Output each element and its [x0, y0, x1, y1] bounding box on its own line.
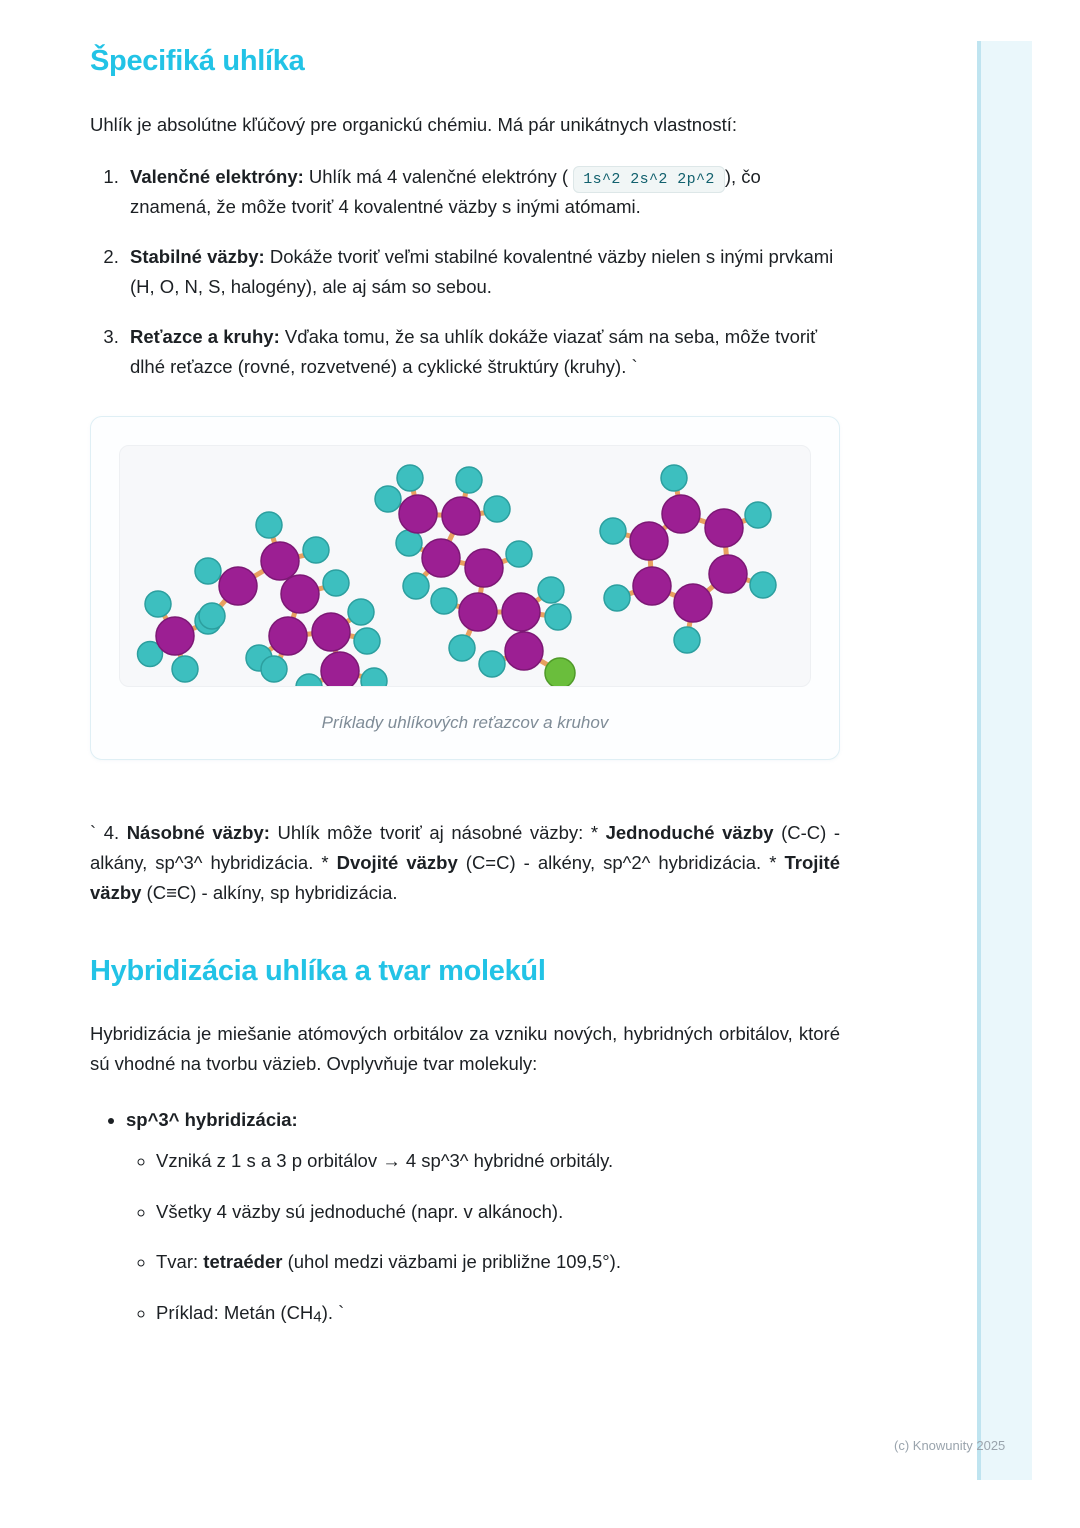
list-item-label: Valenčné elektróny:: [130, 166, 304, 187]
paragraph-bold-single-bonds: Jednoduché väzby: [606, 822, 774, 843]
document-page: Špecifiká uhlíka Uhlík je absolútne kľúč…: [0, 0, 930, 1528]
paragraph-bold-double-bonds: Dvojité väzby: [337, 852, 458, 873]
sub-item-bold: tetraéder: [203, 1251, 282, 1272]
list-item: Stabilné väzby: Dokáže tvoriť veľmi stab…: [124, 242, 840, 302]
benzene-ring-molecule: [600, 465, 776, 653]
list-item: sp^3^ hybridizácia: Vzniká z 1 s a 3 p o…: [126, 1105, 840, 1330]
halogenated-chain-molecule: [375, 465, 575, 686]
multiple-bonds-paragraph: ` 4. Násobné väzby: Uhlík môže tvoriť aj…: [90, 818, 840, 908]
right-side-panel: [977, 41, 1032, 1480]
methane-subscript: 4: [313, 1309, 321, 1326]
figure-card: .c { fill:#9c1f93; stroke:#7d1875; strok…: [90, 416, 840, 760]
molecule-diagram-svg: .c { fill:#9c1f93; stroke:#7d1875; strok…: [120, 446, 810, 686]
branched-alkane-molecule: [195, 512, 387, 686]
list-item: Reťazce a kruhy: Vďaka tomu, že sa uhlík…: [124, 322, 840, 382]
sub-list-item: Tvar: tetraéder (uhol medzi väzbami je p…: [156, 1247, 840, 1277]
page-title: Špecifiká uhlíka: [90, 44, 840, 79]
sub-item-prefix: Tvar:: [156, 1251, 203, 1272]
paragraph-part-1: Uhlík môže tvoriť aj násobné väzby: *: [270, 822, 606, 843]
list-item: Valenčné elektróny: Uhlík má 4 valenčné …: [124, 162, 840, 222]
paragraph-prefix: ` 4.: [90, 822, 127, 843]
sub-item-prefix: Príklad: Metán (CH: [156, 1302, 313, 1323]
hybridization-title: Hybridizácia uhlíka a tvar molekúl: [90, 954, 840, 989]
sub-list-item: Vzniká z 1 s a 3 p orbitálov → 4 sp^3^ h…: [156, 1146, 840, 1176]
sub-item-suffix: (uhol medzi väzbami je približne 109,5°)…: [282, 1251, 621, 1272]
molecule-illustration: .c { fill:#9c1f93; stroke:#7d1875; strok…: [119, 445, 811, 687]
figure-caption: Príklady uhlíkových reťazcov a kruhov: [119, 713, 811, 733]
paragraph-part-3: (C=C) - alkény, sp^2^ hybridizácia. *: [458, 852, 785, 873]
paragraph-label: Násobné väzby:: [127, 822, 270, 843]
hybridization-sub-list: Vzniká z 1 s a 3 p orbitálov → 4 sp^3^ h…: [126, 1146, 840, 1330]
carbon-properties-list: Valenčné elektróny: Uhlík má 4 valenčné …: [90, 162, 840, 382]
sub-list-item: Všetky 4 väzby sú jednoduché (napr. v al…: [156, 1197, 840, 1227]
hybridization-list: sp^3^ hybridizácia: Vzniká z 1 s a 3 p o…: [90, 1105, 840, 1330]
footer-watermark: (c) Knowunity 2025: [894, 1438, 1005, 1453]
hybridization-intro: Hybridizácia je miešanie atómových orbit…: [90, 1019, 840, 1079]
bullet-label: sp^3^ hybridizácia:: [126, 1109, 298, 1130]
list-item-label: Stabilné väzby:: [130, 246, 265, 267]
intro-paragraph: Uhlík je absolútne kľúčový pre organickú…: [90, 110, 840, 140]
list-item-text-before-code: Uhlík má 4 valenčné elektróny (: [309, 166, 568, 187]
paragraph-part-4: (C≡C) - alkíny, sp hybridizácia.: [141, 882, 397, 903]
sub-item-suffix: ). `: [322, 1302, 345, 1323]
sub-list-item: Príklad: Metán (CH4). `: [156, 1298, 840, 1330]
list-item-label: Reťazce a kruhy:: [130, 326, 280, 347]
electron-configuration-code: 1s^2 2s^2 2p^2: [573, 166, 725, 193]
